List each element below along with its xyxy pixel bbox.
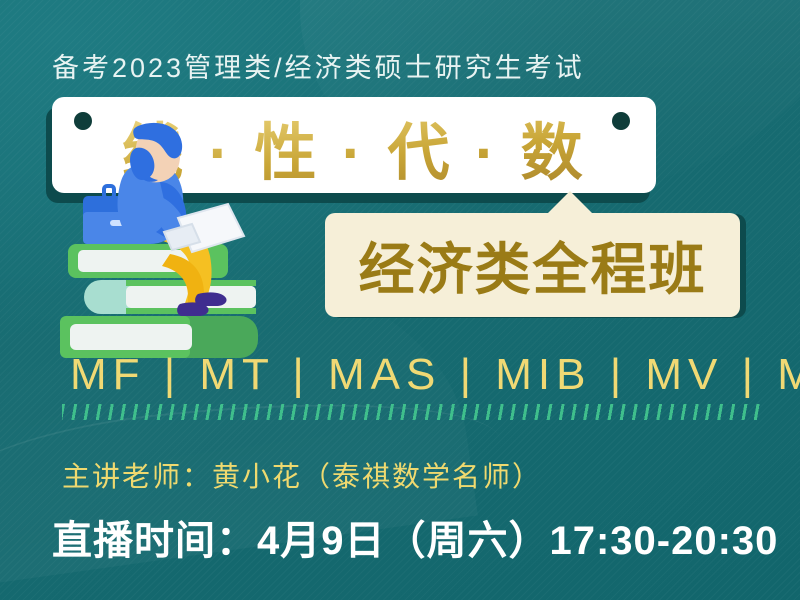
teacher-line: 主讲老师：黄小花（泰祺数学名师） [62,455,542,495]
poster-root: 备考2023管理类/经济类硕士研究生考试 线 · 性 · 代 · 数 [0,0,800,600]
kicker-text: 备考2023管理类/经济类硕士研究生考试 [52,46,585,85]
live-time-line: 直播时间：4月9日（周六）17:30-20:30 [52,508,778,566]
sub-banner-title: 经济类全程班 [325,213,740,317]
program-codes: MF | MT | MAS | MIB | MV | MI [70,350,800,400]
sub-banner-wrapper: 经济类全程班 [325,205,747,319]
person-with-books-illustration [52,108,352,358]
book-middle [84,280,256,314]
background-wave-line [0,379,503,529]
dashed-divider-icon [62,404,762,420]
